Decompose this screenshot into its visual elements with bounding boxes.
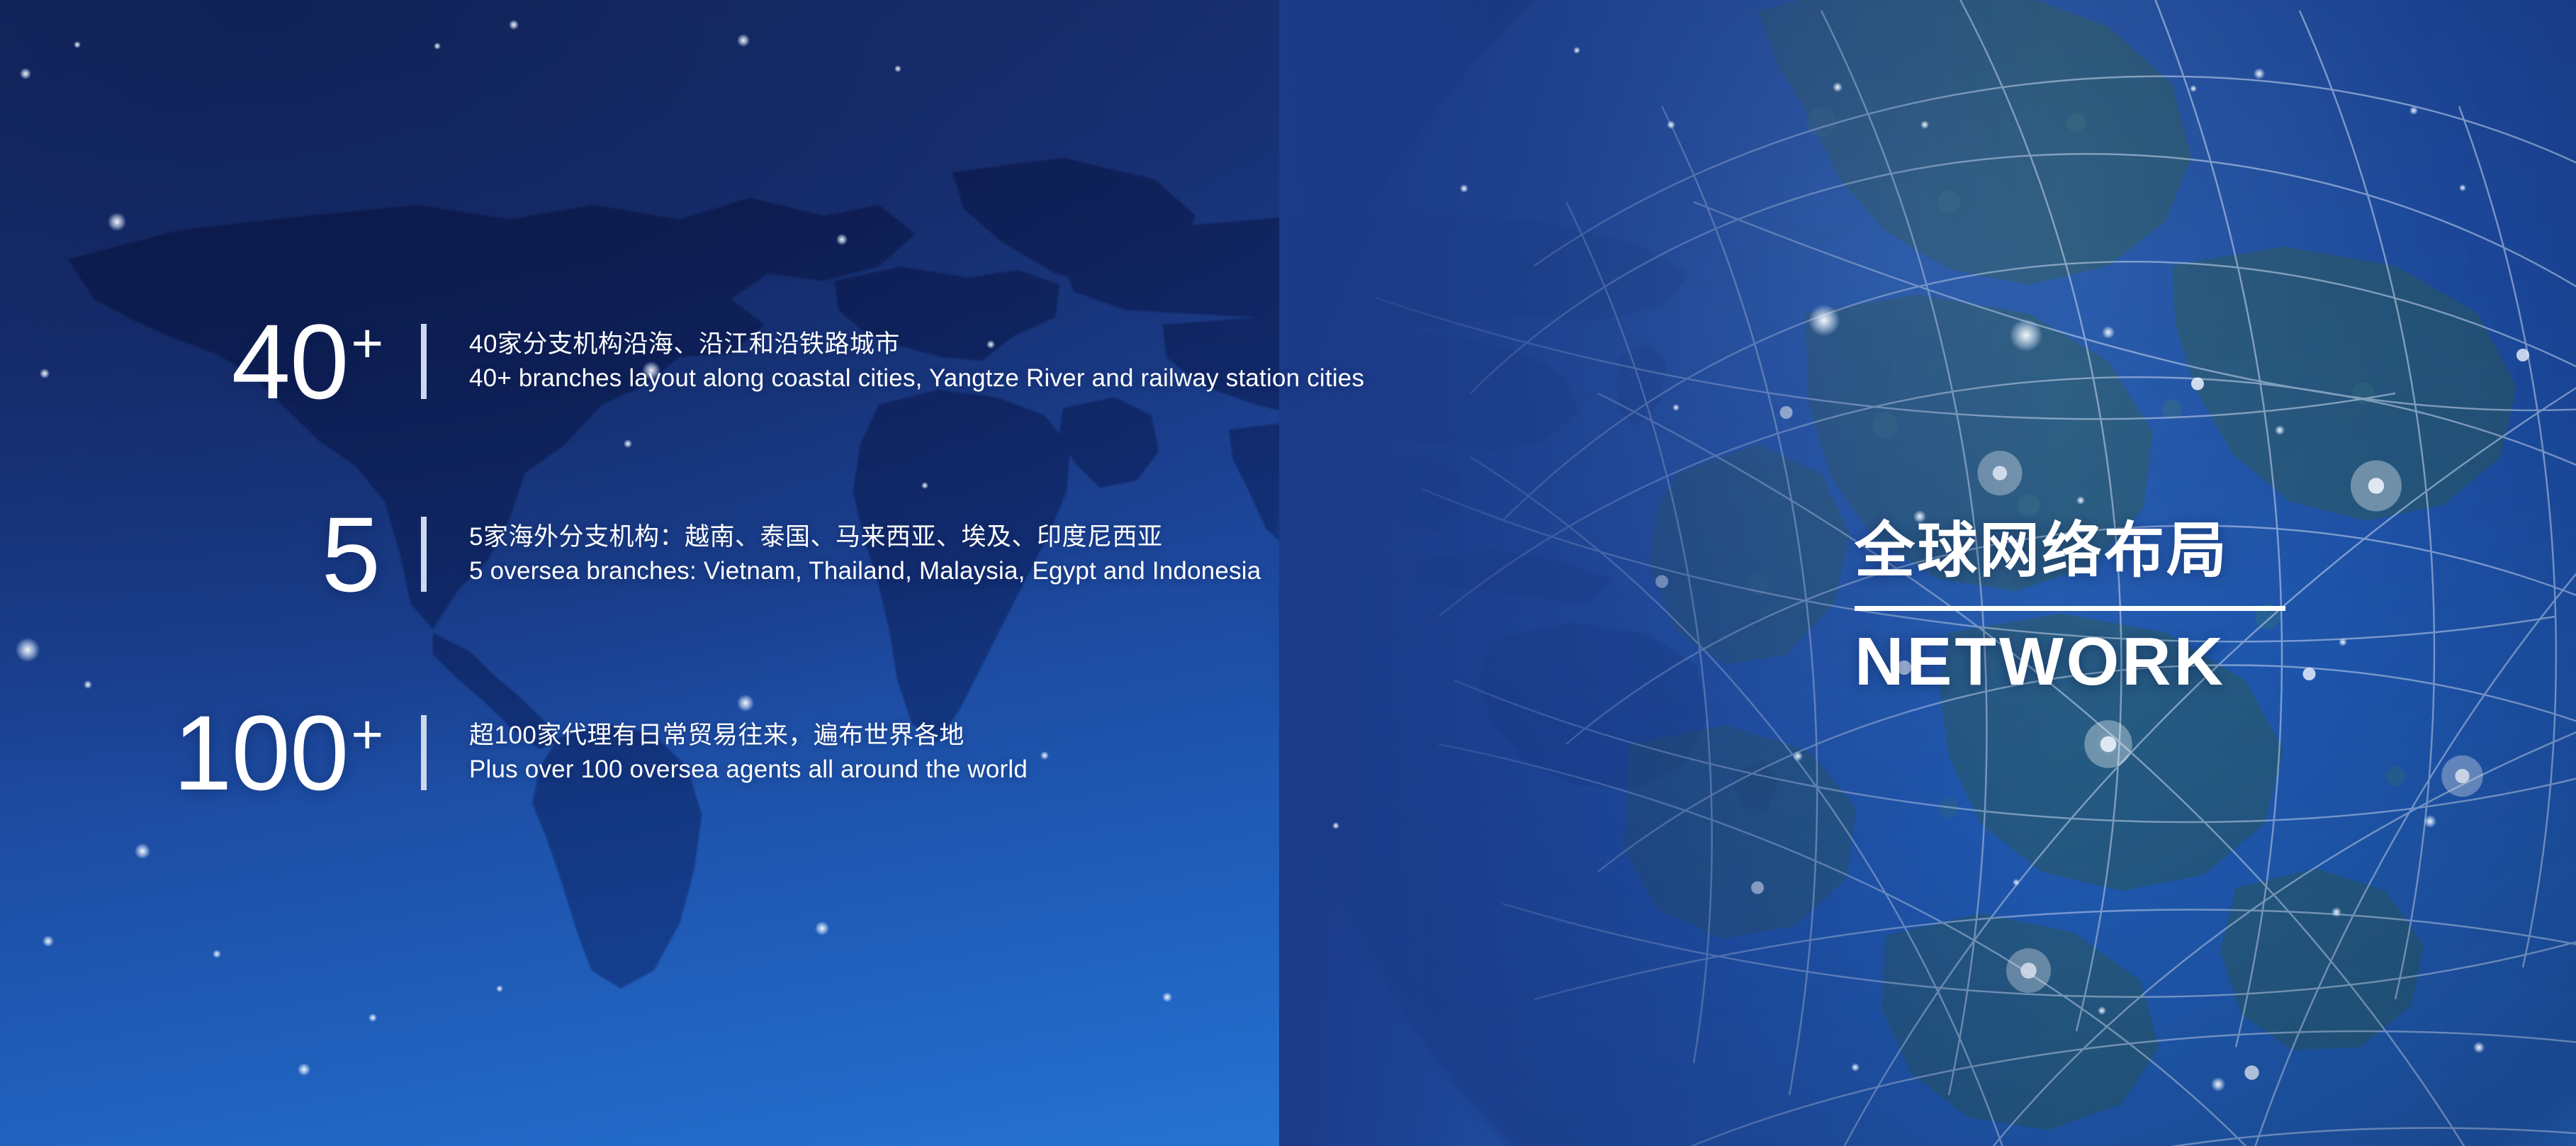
title-divider-rule xyxy=(1855,606,2285,611)
stat-number: 100+ xyxy=(0,700,383,806)
stat-number-value: 40 xyxy=(232,302,349,421)
stat-row: 40+ 40家分支机构沿海、沿江和沿铁路城市 40+ branches layo… xyxy=(0,305,1364,418)
stat-divider-bar xyxy=(421,324,427,399)
stat-text: 5家海外分支机构：越南、泰国、马来西亚、埃及、印度尼西亚 5 oversea b… xyxy=(469,520,1261,588)
stat-text-en: Plus over 100 oversea agents all around … xyxy=(469,753,1028,787)
stat-text-en: 5 oversea branches: Vietnam, Thailand, M… xyxy=(469,554,1261,588)
title-cn: 全球网络布局 xyxy=(1855,521,2351,581)
network-title-block: 全球网络布局 NETWORK xyxy=(1855,521,2351,696)
stat-text-en: 40+ branches layout along coastal cities… xyxy=(469,361,1364,395)
global-network-banner: 40+ 40家分支机构沿海、沿江和沿铁路城市 40+ branches layo… xyxy=(0,0,2576,1146)
title-en: NETWORK xyxy=(1855,628,2351,696)
stat-number-value: 100 xyxy=(173,693,348,812)
stat-row: 100+ 超100家代理有日常贸易往来，遍布世界各地 Plus over 100… xyxy=(0,696,1028,809)
stat-divider-bar xyxy=(421,517,427,592)
stat-number-value: 5 xyxy=(322,495,380,614)
stat-text-cn: 40家分支机构沿海、沿江和沿铁路城市 xyxy=(469,327,1364,361)
stat-number-suffix: + xyxy=(351,703,383,765)
stat-number-suffix: + xyxy=(351,312,383,374)
stat-divider-bar xyxy=(421,715,427,790)
stat-number: 5 xyxy=(0,501,383,607)
stat-text: 40家分支机构沿海、沿江和沿铁路城市 40+ branches layout a… xyxy=(469,327,1364,395)
stat-text: 超100家代理有日常贸易往来，遍布世界各地 Plus over 100 over… xyxy=(469,719,1028,786)
stat-text-cn: 超100家代理有日常贸易往来，遍布世界各地 xyxy=(469,719,1028,753)
stat-number: 40+ xyxy=(0,308,383,415)
stat-text-cn: 5家海外分支机构：越南、泰国、马来西亚、埃及、印度尼西亚 xyxy=(469,520,1261,554)
stat-row: 5 5家海外分支机构：越南、泰国、马来西亚、埃及、印度尼西亚 5 oversea… xyxy=(0,498,1261,611)
